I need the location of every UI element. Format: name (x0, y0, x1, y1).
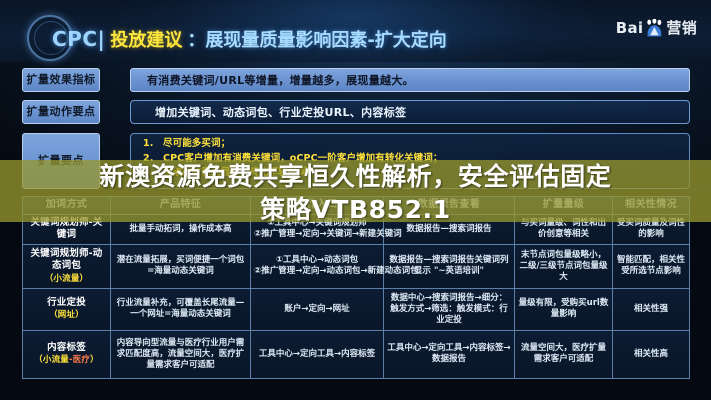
list-item: 突破原有表现层现，转化率较好词-一 (141, 166, 681, 181)
cell-scale: 末节点词包量级略小，二级/三级节点词包量级大 (515, 244, 613, 288)
method-name: 行业定投 (47, 297, 86, 308)
method-name: 内容标签 (47, 342, 86, 353)
table-row: 关键词规划师-关键词 批量手动拓词，操作成本高 ①工具中心→关键词规划师 ②推广… (23, 214, 690, 244)
col-header-scale: 扩量量级 (515, 197, 613, 215)
band-action-points-value: 增加关键词、动态词包、行业定投URL、内容标签 (130, 100, 690, 124)
cell-method: 内容标签 （小流量-医疗） (23, 330, 111, 378)
table-row: 行业定投 （网址） 行业流量补充，可覆盖长尾流量—一个网址=海量动态关键词 账户… (23, 288, 690, 330)
slide-canvas: CPC| 投放建议 ：展现量质量影响因素-扩大定向 Bai 营销 扩量效果指标 … (0, 0, 711, 400)
entry-step: ②推广管理→定向→动态词包→新建动态词包 (254, 266, 380, 277)
cell-report: 工具中心→定向工具→内容标签→数据报告 (384, 330, 515, 378)
label-effect-metric: 扩量效果指标 (22, 68, 100, 92)
baidu-brand-logo: Bai 营销 (616, 17, 697, 38)
cell-scale: 量级有限，受购买url数量影响 (515, 288, 613, 330)
method-sub: （小流量-医疗） (26, 355, 107, 366)
cell-method: 行业定投 （网址） (23, 288, 111, 330)
cell-feature: 潜在流量拓展，买词便捷一个词包=海量动态关键词 (111, 244, 251, 288)
entry-step: 账户→定向→网址 (254, 304, 380, 315)
list-item: CPC客户增加有消费关键词，oCPC一阶客户增加有转化关键词； (141, 152, 681, 167)
entry-step: ②推广管理→定向→关键词→新建关键词 (254, 229, 380, 240)
cell-entry: ①工具中心→动态词包 ②推广管理→定向→动态词包→新建动态词包 (251, 244, 384, 288)
cell-relevance: 智能匹配，相关性受所选节点影响 (613, 244, 690, 288)
col-header-entry: 操作入口 (251, 197, 384, 215)
cell-report: 数据报告—搜索词报告 (384, 214, 515, 244)
cell-entry: 账户→定向→网址 (251, 288, 384, 330)
cell-relevance: 相关性高 (613, 330, 690, 378)
cell-entry: 工具中心→定向工具→内容标签 (251, 330, 384, 378)
cell-feature: 内容导向型流量与医疗行业用户需求匹配度高，流量空间大，医疗扩量需求客户可适配 (111, 330, 251, 378)
title-prefix: CPC| (52, 27, 105, 51)
entry-step: ①工具中心→关键词规划师 (254, 218, 380, 229)
cell-feature: 批量手动拓词，操作成本高 (111, 214, 251, 244)
sub-prefix: （小流量 (34, 355, 69, 365)
entry-step: 工具中心→定向工具→内容标签 (254, 349, 380, 360)
col-header-method: 加词方式 (23, 197, 111, 215)
label-key-points: 扩量要点 (22, 133, 100, 189)
band-key-points-list: 尽可能多买词； CPC客户增加有消费关键词，oCPC一阶客户增加有转化关键词； … (130, 133, 690, 189)
label-action-points: 扩量动作要点 (22, 100, 100, 124)
sub-highlight: -医疗 (69, 355, 90, 365)
table-header-row: 加词方式 产品特征 操作入口 数据报告查看 扩量量级 相关性情况 (23, 197, 690, 215)
method-sub: （网址） (26, 310, 107, 321)
cell-report: 数据中心→搜索词报告→细分：触发方式→筛选：触发模式：行业定投 (384, 288, 515, 330)
page-title: CPC| 投放建议 ：展现量质量影响因素-扩大定向 (52, 26, 447, 52)
brand-text-left: Bai (616, 19, 644, 37)
method-sub: （小流量） (26, 274, 107, 285)
method-name: 关键词规划师-动态词包 (30, 248, 102, 271)
cell-scale: 与买词量级、词性和出价创意等相关 (515, 214, 613, 244)
col-header-report: 数据报告查看 (384, 197, 515, 215)
list-item: 尽可能多买词； (141, 137, 681, 152)
expansion-methods-table: 加词方式 产品特征 操作入口 数据报告查看 扩量量级 相关性情况 关键词规划师-… (22, 196, 690, 379)
entry-step: ①工具中心→动态词包 (254, 255, 380, 266)
cell-feature: 行业流量补充，可覆盖长尾流量—一个网址=海量动态关键词 (111, 288, 251, 330)
cell-entry: ①工具中心→关键词规划师 ②推广管理→定向→关键词→新建关键词 (251, 214, 384, 244)
slide-header: CPC| 投放建议 ：展现量质量影响因素-扩大定向 Bai 营销 (0, 0, 711, 62)
title-highlight: 投放建议 (110, 26, 182, 52)
sub-suffix: ） (90, 355, 99, 365)
table-row: 关键词规划师-动态词包 （小流量） 潜在流量拓展，买词便捷一个词包=海量动态关键… (23, 244, 690, 288)
brand-text-right: 营销 (666, 17, 697, 38)
band-effect-metric-value: 有消费关键词/URL等增量，增量越多，展现量越大。 (130, 68, 690, 92)
table-row: 内容标签 （小流量-医疗） 内容导向型流量与医疗行业用户需求匹配度高，流量空间大… (23, 330, 690, 378)
col-header-feature: 产品特征 (111, 197, 251, 215)
title-rest: ：展现量质量影响因素-扩大定向 (187, 26, 446, 52)
cell-relevance: 受买词质量及词性的影响 (613, 214, 690, 244)
col-header-relevance: 相关性情况 (613, 197, 690, 215)
cell-method: 关键词规划师-关键词 (23, 214, 111, 244)
cell-method: 关键词规划师-动态词包 （小流量） (23, 244, 111, 288)
baidu-paw-icon (645, 19, 664, 37)
cell-relevance: 相关性强 (613, 288, 690, 330)
cell-scale: 流量空间大，医疗扩量需求客户可适配 (515, 330, 613, 378)
